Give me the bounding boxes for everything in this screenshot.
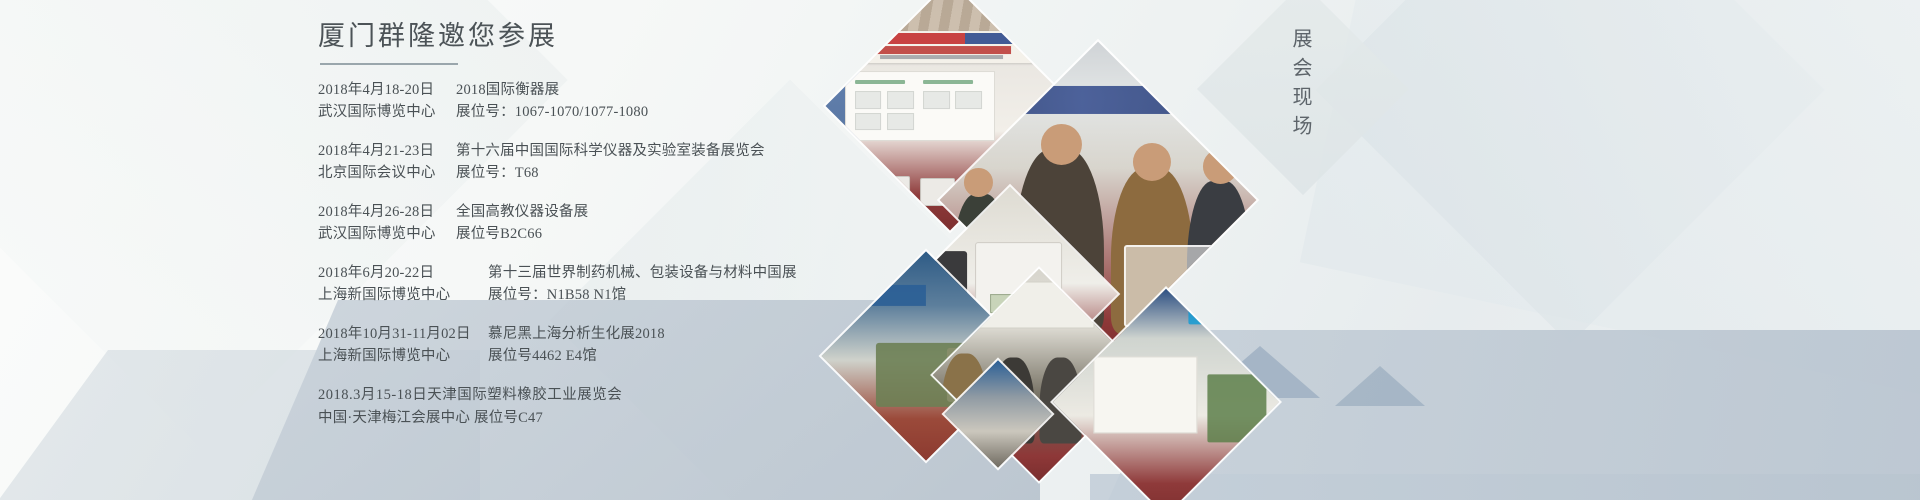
event-date: 2018年4月26-28日 — [318, 201, 456, 223]
event-name: 全国高教仪器设备展 — [456, 201, 588, 223]
event-booth: 展位号4462 E4馆 — [488, 345, 597, 367]
event-booth: 展位号C47 — [474, 410, 543, 426]
decorative-triangle-right — [1335, 366, 1425, 406]
event-date: 2018年10月31-11月02日 — [318, 323, 488, 345]
event-venue: 北京国际会议中心 — [318, 162, 456, 184]
poster-canvas: 厦门群隆邀您参展 2018年4月18-20日 2018国际衡器展 武汉国际博览中… — [0, 0, 1920, 500]
photo-collage — [838, 0, 1238, 500]
event-date: 2018年6月20-22日 — [318, 262, 488, 284]
event-name: 第十三届世界制药机械、包装设备与材料中国展 — [488, 262, 797, 284]
event-venue: 上海新国际博览中心 — [318, 284, 488, 306]
event-booth: 展位号B2C66 — [456, 223, 542, 245]
event-date: 2018年4月21-23日 — [318, 140, 456, 162]
event-venue: 武汉国际博览中心 — [318, 223, 456, 245]
section-label: 展会现场 — [1286, 28, 1315, 144]
event-booth: 展位号：N1B58 N1馆 — [488, 284, 626, 306]
event-name: 2018国际衡器展 — [456, 79, 559, 101]
event-venue: 中国·天津梅江会展中心 — [318, 410, 470, 426]
event-name: 慕尼黑上海分析生化展2018 — [488, 323, 665, 345]
event-venue: 上海新国际博览中心 — [318, 345, 488, 367]
event-booth: 展位号：1067-1070/1077-1080 — [456, 101, 648, 123]
event-name: 第十六届中国国际科学仪器及实验室装备展览会 — [456, 140, 765, 162]
event-booth: 展位号：T68 — [456, 162, 539, 184]
event-date: 2018年4月18-20日 — [318, 79, 456, 101]
event-venue: 武汉国际博览中心 — [318, 101, 456, 123]
title-underline — [320, 63, 458, 65]
